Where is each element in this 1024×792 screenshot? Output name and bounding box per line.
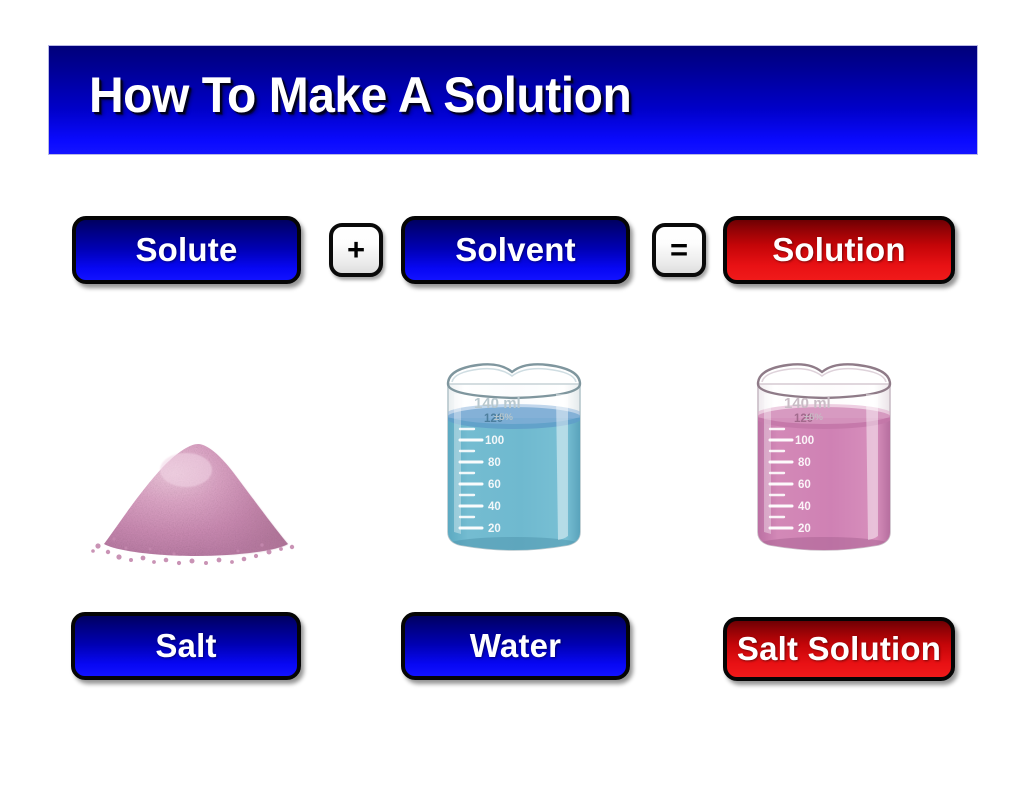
term-solvent[interactable]: Solvent — [401, 216, 630, 284]
beaker-water-grad-100: 100 — [485, 435, 504, 447]
beaker-water-grad-60: 60 — [488, 479, 501, 491]
beaker-solution-grad-80: 80 — [798, 457, 811, 469]
term-solution[interactable]: Solution — [723, 216, 955, 284]
example-water-label: Water — [470, 627, 561, 665]
beaker-solution-tolerance: ±5% — [804, 412, 823, 423]
term-solution-label: Solution — [772, 231, 906, 269]
term-solvent-label: Solvent — [455, 231, 576, 269]
beaker-solution-grad-100: 100 — [795, 435, 814, 447]
example-salt-solution-label: Salt Solution — [737, 630, 941, 668]
term-solute[interactable]: Solute — [72, 216, 301, 284]
beaker-salt-solution-image: 100 80 60 40 20 120 140 ml ±5% — [738, 336, 910, 554]
slide-title-bar: How To Make A Solution — [48, 45, 978, 155]
beaker-solution-grad-20: 20 — [798, 523, 811, 535]
beaker-water-grad-40: 40 — [488, 501, 501, 513]
beaker-water-tolerance: ±5% — [494, 412, 513, 423]
example-salt-solution[interactable]: Salt Solution — [723, 617, 955, 681]
beaker-water-image: 100 80 60 40 20 120 140 ml ±5% — [428, 336, 600, 554]
beaker-water-grad-20: 20 — [488, 523, 501, 535]
beaker-solution-capacity: 140 ml — [784, 395, 831, 412]
example-water[interactable]: Water — [401, 612, 630, 680]
plus-icon: + — [329, 223, 383, 277]
page-title: How To Make A Solution — [89, 64, 631, 126]
plus-symbol: + — [347, 234, 365, 265]
beaker-water-capacity: 140 ml — [474, 395, 521, 412]
equals-symbol: = — [670, 234, 688, 265]
beaker-solution-grad-40: 40 — [798, 501, 811, 513]
example-salt-label: Salt — [155, 627, 216, 665]
equals-icon: = — [652, 223, 706, 277]
example-salt[interactable]: Salt — [71, 612, 301, 680]
term-solute-label: Solute — [135, 231, 237, 269]
beaker-water-grad-80: 80 — [488, 457, 501, 469]
beaker-solution-grad-60: 60 — [798, 479, 811, 491]
salt-powder-pile-image — [86, 418, 306, 566]
